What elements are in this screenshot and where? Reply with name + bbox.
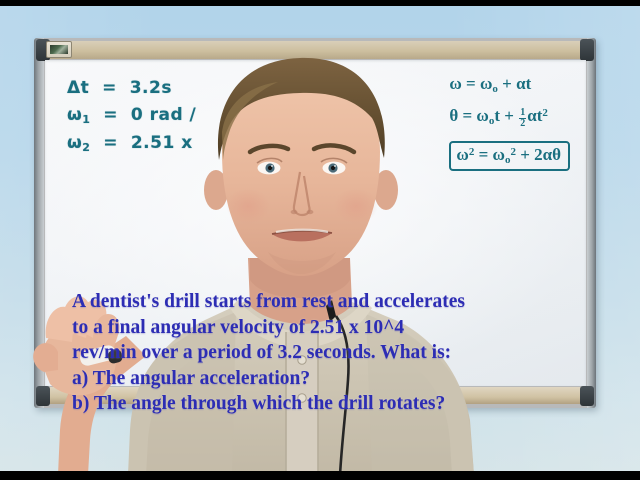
board-logo-sticker <box>46 41 72 58</box>
caption-line-4: a) The angular acceleration? <box>72 366 592 392</box>
given-delta-t: Δt = 3.2s <box>67 78 196 98</box>
caption-line-2: to a final angular velocity of 2.51 x 10… <box>72 315 592 341</box>
board-corner-cap-top-right <box>580 39 594 61</box>
sticker-glyph <box>50 45 68 54</box>
caption-overlay: A dentist's drill starts from rest and a… <box>72 289 592 417</box>
board-rail-left <box>34 38 44 408</box>
letterbox-bar-top <box>0 0 640 6</box>
equation-angular-displacement: θ = ωot + 12αt2 <box>449 106 570 130</box>
caption-line-1: A dentist's drill starts from rest and a… <box>72 289 592 315</box>
caption-line-5: b) The angle through which the drill rot… <box>72 391 592 417</box>
equation-angular-velocity: ω = ωo + αt <box>449 74 570 95</box>
given-omega-1: ω1 = 0 rad / <box>67 105 196 126</box>
equation-omega-squared: ω2 = ωo2 + 2αθ <box>449 141 570 171</box>
board-rail-top <box>40 41 591 59</box>
handwritten-equations: ω = ωo + αt θ = ωot + 12αt2 ω2 = ωo2 + 2… <box>449 74 570 173</box>
handwritten-givens: Δt = 3.2s ω1 = 0 rad / ω2 = 2.51 x <box>67 78 196 161</box>
video-frame: Δt = 3.2s ω1 = 0 rad / ω2 = 2.51 x ω = ω… <box>0 0 640 480</box>
given-omega-2: ω2 = 2.51 x <box>67 133 196 154</box>
board-corner-cap-bottom-left <box>36 386 50 406</box>
caption-line-3: rev/min over a period of 3.2 seconds. Wh… <box>72 340 592 366</box>
letterbox-bar-bottom <box>0 471 640 480</box>
